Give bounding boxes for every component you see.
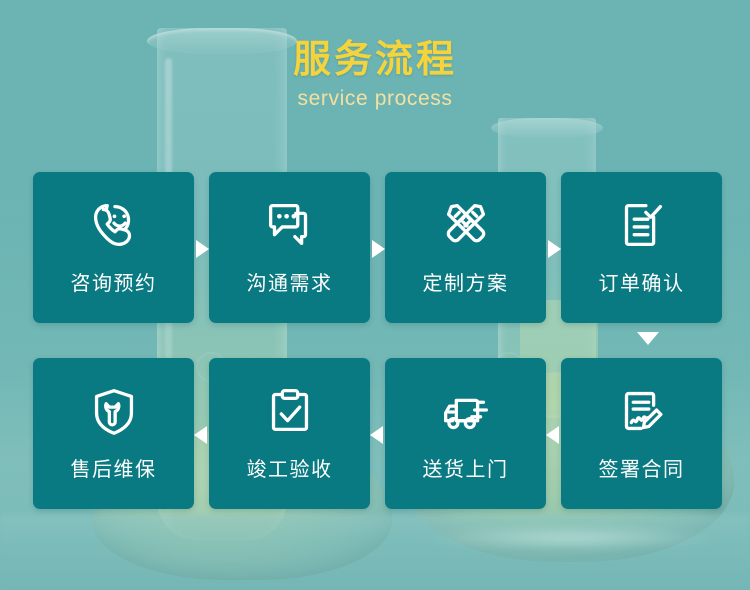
page-title: 服务流程 bbox=[0, 40, 750, 81]
connector-arrow-down bbox=[637, 332, 659, 345]
steps-grid: 咨询预约 沟通需求 bbox=[33, 172, 722, 509]
connector-arrow-right bbox=[372, 240, 385, 258]
steps-row-bottom: 售后维保 竣工验收 bbox=[33, 358, 722, 509]
step-card-label: 竣工验收 bbox=[247, 460, 333, 480]
chat-bubbles-icon bbox=[259, 194, 321, 256]
step-card-order-confirm[interactable]: 订单确认 bbox=[561, 172, 722, 323]
phone-smile-icon bbox=[83, 194, 145, 256]
page-subtitle: service process bbox=[0, 87, 750, 110]
step-card-consult[interactable]: 咨询预约 bbox=[33, 172, 194, 323]
steps-row-top: 咨询预约 沟通需求 bbox=[33, 172, 722, 323]
step-card-aftersales[interactable]: 售后维保 bbox=[33, 358, 194, 509]
step-card-communicate[interactable]: 沟通需求 bbox=[209, 172, 370, 323]
pencil-ruler-icon bbox=[435, 194, 497, 256]
contract-sign-icon bbox=[611, 380, 673, 442]
delivery-truck-icon bbox=[435, 380, 497, 442]
step-card-label: 售后维保 bbox=[71, 460, 157, 480]
shield-wrench-icon bbox=[83, 380, 145, 442]
connector-arrow-right bbox=[548, 240, 561, 258]
service-process-infographic: 服务流程 service process 咨询预约 bbox=[0, 0, 750, 590]
step-card-label: 咨询预约 bbox=[71, 274, 157, 294]
connector-arrow-left bbox=[546, 426, 559, 444]
clipboard-check-icon bbox=[259, 380, 321, 442]
document-check-icon bbox=[611, 194, 673, 256]
connector-arrow-left bbox=[370, 426, 383, 444]
step-card-label: 签署合同 bbox=[599, 460, 685, 480]
step-card-label: 定制方案 bbox=[423, 274, 509, 294]
step-card-label: 沟通需求 bbox=[247, 274, 333, 294]
step-card-acceptance[interactable]: 竣工验收 bbox=[209, 358, 370, 509]
step-card-delivery[interactable]: 送货上门 bbox=[385, 358, 546, 509]
step-card-label: 订单确认 bbox=[599, 274, 685, 294]
page-header: 服务流程 service process bbox=[0, 40, 750, 110]
step-card-label: 送货上门 bbox=[423, 460, 509, 480]
connector-arrow-left bbox=[194, 426, 207, 444]
connector-arrow-right bbox=[196, 240, 209, 258]
step-card-sign-contract[interactable]: 签署合同 bbox=[561, 358, 722, 509]
step-card-custom-plan[interactable]: 定制方案 bbox=[385, 172, 546, 323]
